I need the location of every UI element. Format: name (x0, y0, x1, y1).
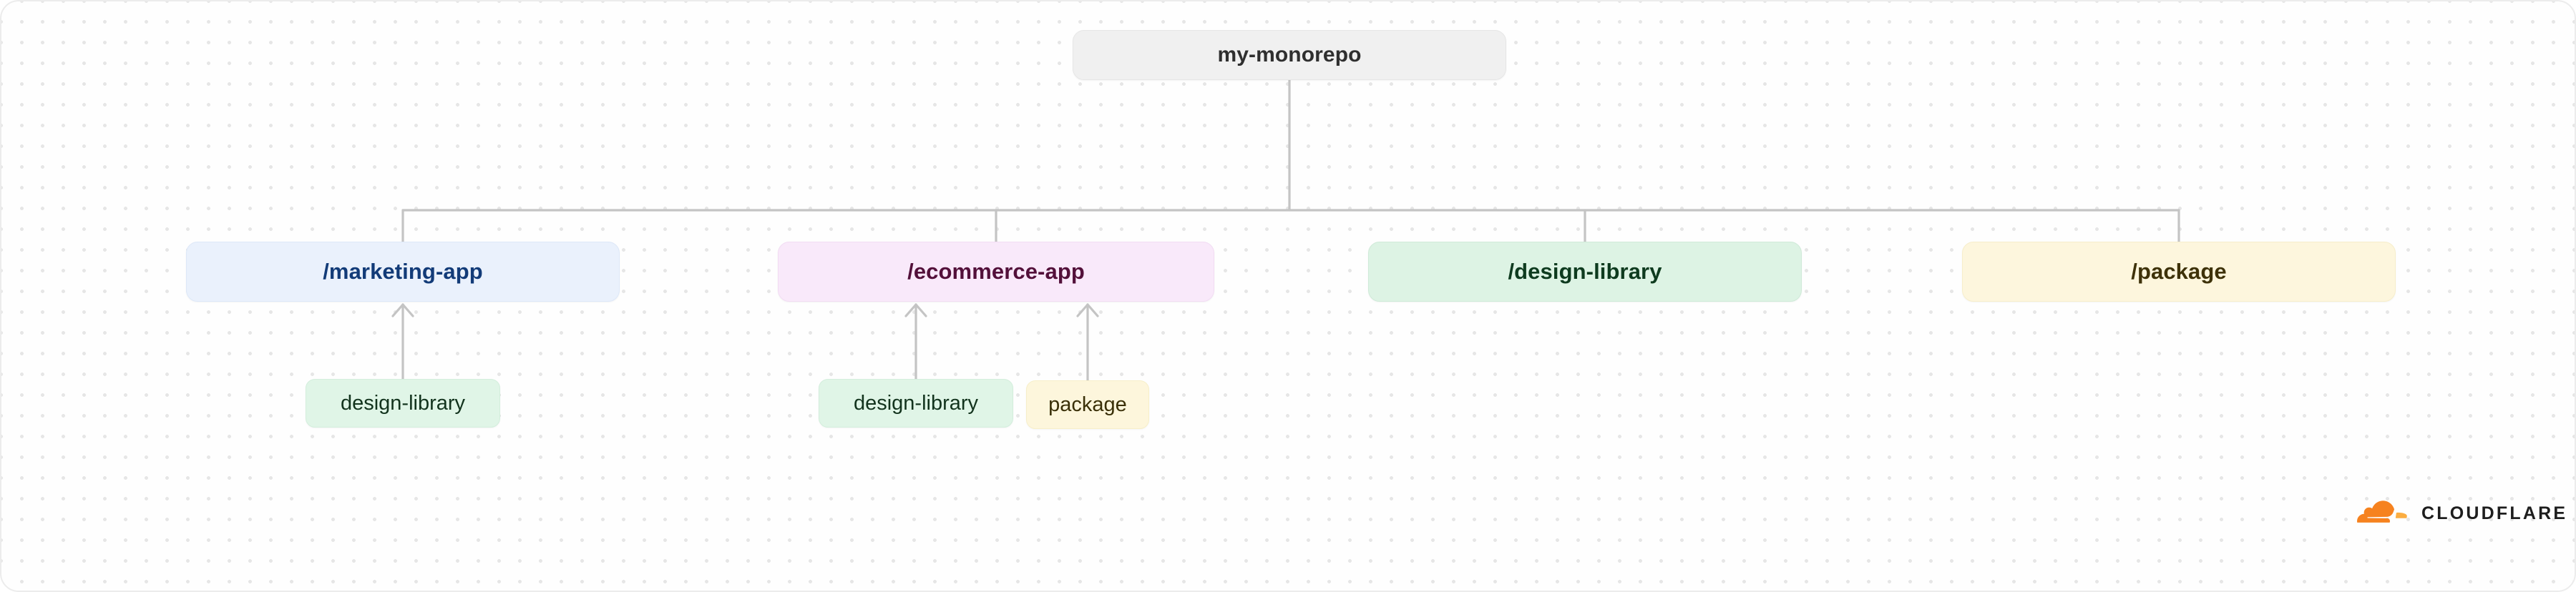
chip-label: design-library (854, 392, 978, 415)
node-marketing-app[interactable]: /marketing-app (186, 242, 620, 302)
dependency-chip-ecommerce-design-library[interactable]: design-library (819, 379, 1013, 428)
cloudflare-logo: CLOUDFLARE (2350, 492, 2542, 535)
arrowhead-ecommerce-design (906, 305, 926, 316)
arrowhead-ecommerce-package (1078, 305, 1098, 316)
dependency-chip-marketing-design-library[interactable]: design-library (306, 379, 500, 428)
cloud-light-wing (2396, 513, 2407, 518)
arrowhead-marketing-design (393, 305, 413, 316)
node-design-library[interactable]: /design-library (1368, 242, 1802, 302)
node-package[interactable]: /package (1962, 242, 2396, 302)
cloudflare-cloud-icon (2350, 497, 2411, 530)
node-label: /marketing-app (323, 259, 483, 285)
diagram-canvas: my-monorepo /marketing-app /ecommerce-ap… (0, 0, 2576, 592)
node-label: my-monorepo (1217, 43, 1361, 67)
node-my-monorepo[interactable]: my-monorepo (1073, 30, 1506, 80)
node-label: /design-library (1508, 259, 1662, 285)
cloudflare-wordmark: CLOUDFLARE (2421, 505, 2567, 523)
chip-label: design-library (341, 392, 465, 415)
dependency-chip-ecommerce-package[interactable]: package (1026, 380, 1149, 429)
chip-label: package (1048, 393, 1127, 417)
node-label: /package (2131, 259, 2227, 285)
cloud-body (2357, 500, 2394, 523)
node-ecommerce-app[interactable]: /ecommerce-app (778, 242, 1214, 302)
node-label: /ecommerce-app (907, 259, 1085, 285)
